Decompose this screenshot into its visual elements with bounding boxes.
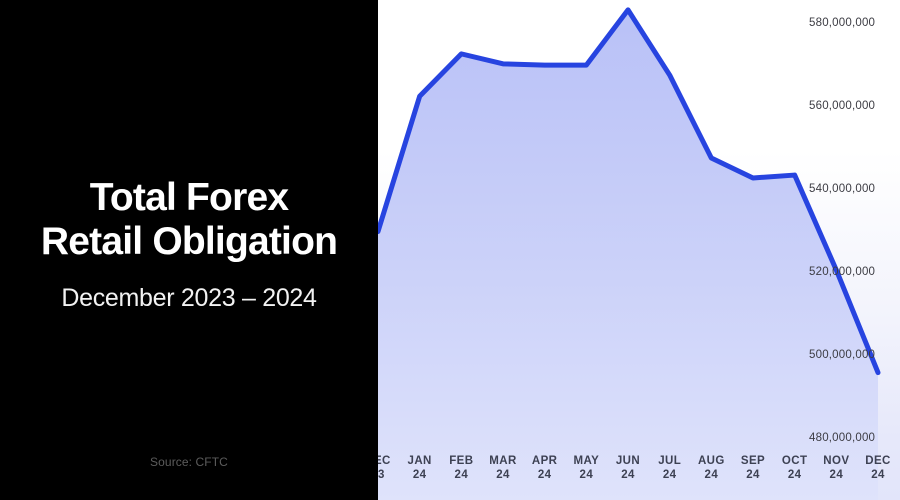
y-axis-tick-label: 560,000,000 [809,100,875,112]
x-tick-year: 24 [397,468,443,482]
x-tick-month: DEC [865,455,890,467]
x-tick-month: JUN [616,455,640,467]
y-axis-tick-label: 480,000,000 [809,432,875,444]
x-axis-tick-label: JUN24 [605,454,651,482]
x-tick-year: 24 [605,468,651,482]
x-axis-tick-label: AUG24 [688,454,734,482]
page-subtitle: December 2023 – 2024 [0,283,378,313]
x-axis-tick-label: FEB24 [438,454,484,482]
y-axis-tick-label: 500,000,000 [809,349,875,361]
x-tick-year: 24 [647,468,693,482]
x-axis-tick-label: OCT24 [772,454,818,482]
y-axis-tick-label: 540,000,000 [809,183,875,195]
x-tick-month: NOV [823,455,849,467]
x-tick-month: FEB [449,455,473,467]
page-title-line-1: Total Forex [0,176,378,220]
chart-area-fill [378,10,878,500]
x-tick-month: JAN [408,455,432,467]
page-title-line-2: Retail Obligation [0,220,378,264]
x-tick-year: 24 [772,468,818,482]
title-panel: Total Forex Retail Obligation December 2… [0,0,378,500]
x-tick-month: AUG [698,455,725,467]
x-tick-year: 24 [855,468,900,482]
x-axis-tick-label: APR24 [522,454,568,482]
area-chart [378,0,900,500]
x-tick-year: 24 [438,468,484,482]
x-tick-month: DEC [378,455,391,467]
source-attribution: Source: CFTC [0,455,378,469]
x-tick-year: 24 [813,468,859,482]
x-tick-month: MAR [489,455,516,467]
x-axis-tick-label: MAR24 [480,454,526,482]
x-tick-month: OCT [782,455,807,467]
y-axis-tick-label: 520,000,000 [809,266,875,278]
x-tick-year: 24 [480,468,526,482]
x-axis-tick-label: JAN24 [397,454,443,482]
x-tick-year: 24 [563,468,609,482]
x-tick-year: 24 [688,468,734,482]
chart-panel: 580,000,000560,000,000540,000,000520,000… [378,0,900,500]
infographic-root: Total Forex Retail Obligation December 2… [0,0,900,500]
y-axis-tick-label: 580,000,000 [809,17,875,29]
x-axis-tick-label: SEP24 [730,454,776,482]
x-tick-year: 24 [522,468,568,482]
x-axis-tick-label: JUL24 [647,454,693,482]
x-tick-month: JUL [658,455,681,467]
x-tick-month: SEP [741,455,765,467]
x-axis-tick-label: NOV24 [813,454,859,482]
x-tick-month: MAY [573,455,599,467]
x-axis-tick-label: DEC24 [855,454,900,482]
title-block: Total Forex Retail Obligation December 2… [0,176,378,313]
x-axis-tick-label: MAY24 [563,454,609,482]
x-tick-year: 24 [730,468,776,482]
x-tick-month: APR [532,455,557,467]
